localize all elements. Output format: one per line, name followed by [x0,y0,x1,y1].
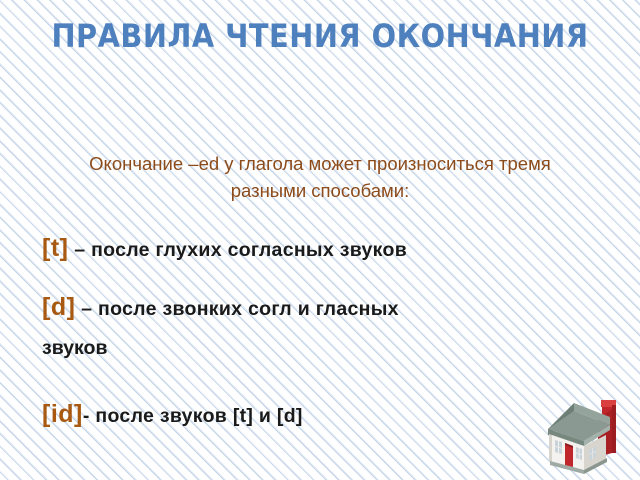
phonetic-symbol-d: [d] [42,293,75,321]
rule-item-t: [t] – после глухих согласных звуков [42,233,608,264]
phonetic-symbol-id: [id] [42,400,83,428]
slide-canvas: Правила чтения окончания Окончание –ed у… [0,0,640,480]
phonetic-symbol-t: [t] [42,234,68,262]
page-title: Правила чтения окончания [0,18,640,55]
rule-item-id: [id]- после звуков [t] и [d] [42,399,608,430]
house-icon [540,395,632,475]
house-illustration [540,395,632,475]
rule-text-d: – после звонких согл и гласных [75,298,398,320]
rules-list: [t] – после глухих согласных звуков [d] … [42,233,608,430]
rule-item-d: [d] – после звонких согл и гласных звуко… [42,292,608,373]
rule-text-t: – после глухих согласных звуков [68,239,407,261]
rule-text-d-wrap: звуков [42,324,608,374]
rule-text-id: - после звуков [t] и [d] [83,405,303,427]
intro-paragraph: Окончание –ed у глагола может произносит… [55,150,585,204]
